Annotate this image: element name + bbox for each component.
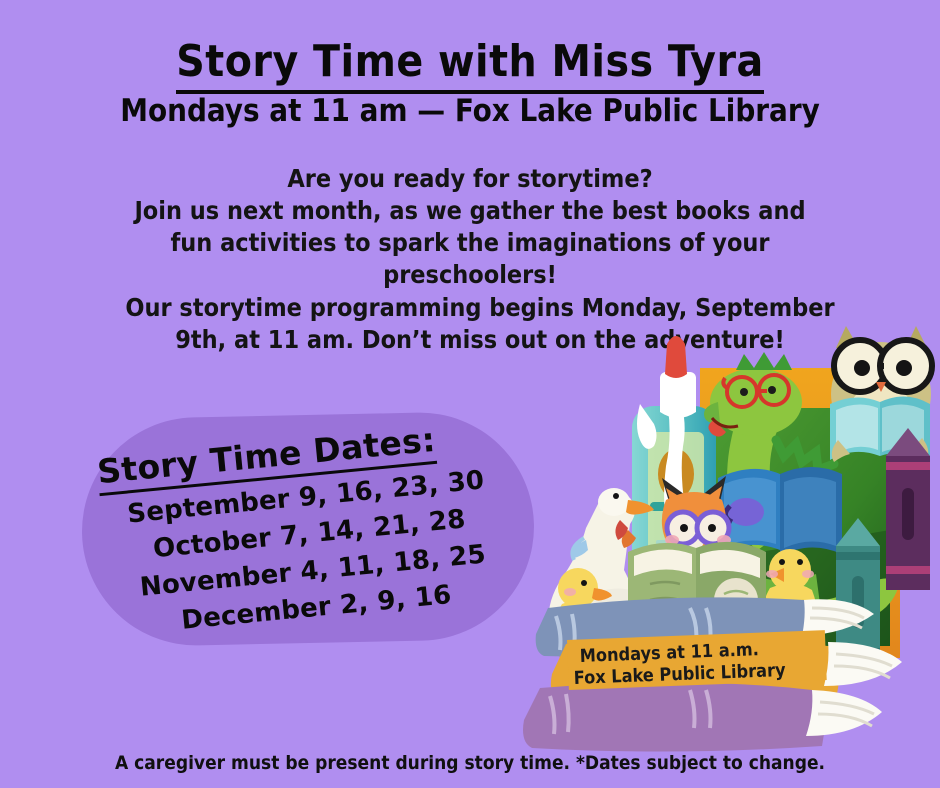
- book-caption-line-1: Mondays at 11 a.m.: [579, 639, 759, 667]
- book-caption: Mondays at 11 a.m. Fox Lake Public Libra…: [567, 630, 827, 690]
- page-title: Story Time with Miss Tyra: [0, 40, 940, 84]
- page-subtitle: Mondays at 11 am — Fox Lake Public Libra…: [0, 94, 940, 130]
- intro-line-2: Join us next month, as we gather the bes…: [70, 195, 870, 227]
- intro-paragraph: Are you ready for storytime? Join us nex…: [70, 163, 870, 291]
- intro-line-1: Are you ready for storytime?: [70, 163, 870, 195]
- goose-icon: [549, 488, 654, 656]
- book-stack-icon: [523, 597, 902, 751]
- footer-note: A caregiver must be present during story…: [0, 752, 940, 774]
- fox-reading-icon: [615, 476, 775, 661]
- story-time-dates-content: Story Time Dates: September 9, 16, 23, 3…: [82, 397, 542, 663]
- intro-line-4: preschoolers!: [70, 259, 870, 291]
- start-date-paragraph: Our storytime programming begins Monday,…: [85, 292, 875, 356]
- intro-line-3: fun activities to spark the imaginations…: [70, 227, 870, 259]
- start-line-2: 9th, at 11 am. Don’t miss out on the adv…: [85, 324, 875, 356]
- flyer-canvas: Story Time with Miss Tyra Mondays at 11 …: [0, 0, 940, 788]
- duckling-icon: [762, 549, 818, 650]
- book-caption-line-2: Fox Lake Public Library: [573, 660, 786, 689]
- dinosaur-reading-icon: [704, 352, 898, 627]
- crayon-teal-icon: [836, 518, 880, 672]
- start-line-1: Our storytime programming begins Monday,…: [85, 292, 875, 324]
- chalkboard-icon: [700, 368, 900, 658]
- duckling-icon: [553, 568, 612, 660]
- page-title-text: Story Time with Miss Tyra: [176, 36, 763, 94]
- glue-bottle-icon: [632, 336, 716, 596]
- crayon-purple-icon: [886, 428, 930, 590]
